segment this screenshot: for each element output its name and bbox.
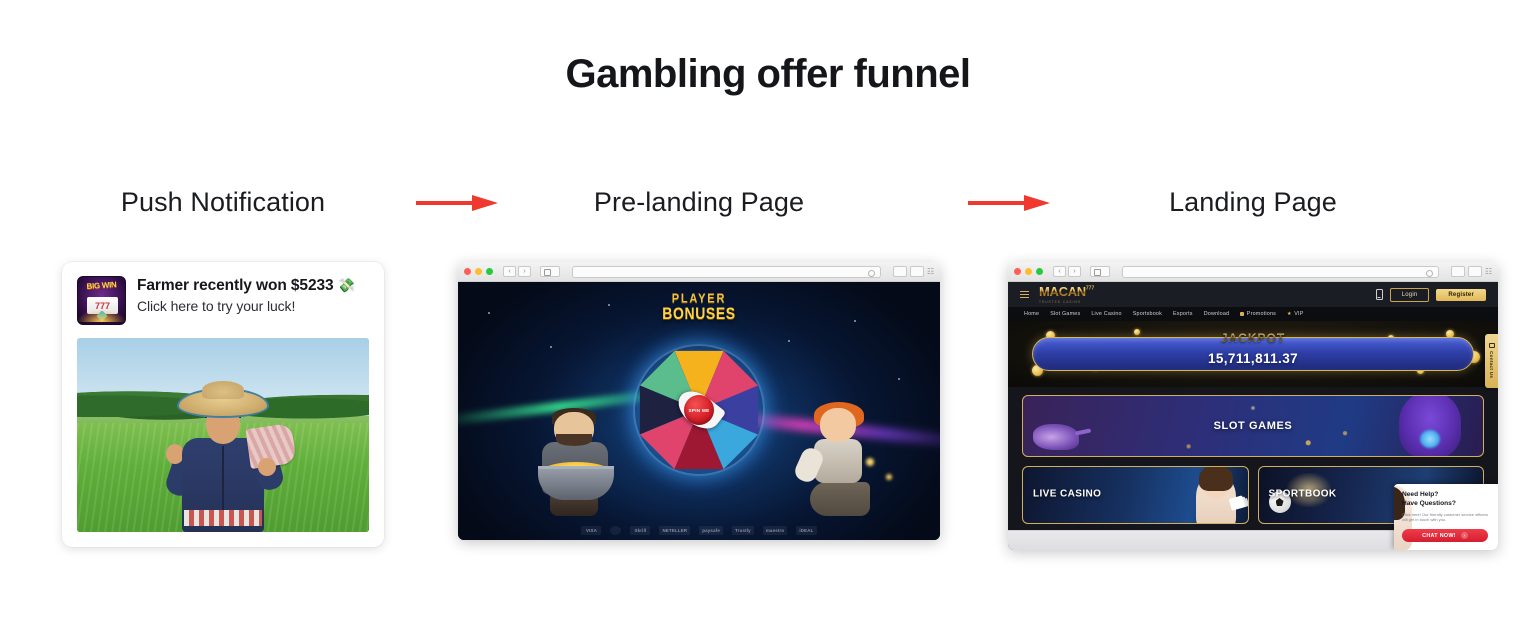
chat-widget-title-line2: Have Questions? xyxy=(1402,500,1490,509)
promo-label-live-casino: LIVE CASINO xyxy=(1033,490,1101,501)
chevron-right-icon: › xyxy=(1461,532,1468,539)
promo-label-slot-games: SLOT GAMES xyxy=(1023,420,1483,432)
stage-header-row: Push Notification Pre-landing Page Landi… xyxy=(0,180,1536,226)
landing-browser-window: ‹ › ☷ MACAN777 TRUSTED CASINO Login xyxy=(1008,262,1498,550)
close-icon[interactable] xyxy=(464,268,471,275)
payment-logo-paysafe: paysafe xyxy=(699,526,723,535)
promo-card-slot-games[interactable]: SLOT GAMES xyxy=(1022,395,1484,457)
address-bar-pre[interactable] xyxy=(572,266,881,278)
close-icon[interactable] xyxy=(1014,268,1021,275)
tab-overview-icon[interactable]: ☷ xyxy=(927,268,934,275)
browser-nav-buttons-landing[interactable]: ‹ › xyxy=(1053,266,1081,277)
minimize-icon[interactable] xyxy=(1025,268,1032,275)
chat-now-button[interactable]: CHAT NOW! › xyxy=(1402,529,1488,542)
jackpot-banner: JACKPOT 15,711,811.37 xyxy=(1008,321,1498,387)
push-notification-title: Farmer recently won $5233 💸 xyxy=(137,277,355,295)
star-icon xyxy=(898,378,900,380)
player-bonuses-logo: PLAYER BONUSES xyxy=(458,294,940,320)
farmer-belt xyxy=(184,510,262,526)
nav-item-label: Live Casino xyxy=(1091,311,1121,317)
pre-landing-content: PLAYER BONUSES 200FREE xyxy=(458,282,940,540)
payment-logo-ideal: iDEAL xyxy=(796,526,816,535)
push-notification-card[interactable]: BIG WIN 777 Farmer recently won $5233 💸 … xyxy=(62,262,384,547)
back-icon[interactable]: ‹ xyxy=(1053,266,1066,277)
nav-item-promotions[interactable]: Promotions xyxy=(1240,311,1276,317)
chat-now-label: CHAT NOW! xyxy=(1422,533,1456,539)
funnel-infographic: Gambling offer funnel Push Notification … xyxy=(0,0,1536,630)
landing-page-content: MACAN777 TRUSTED CASINO Login Register H… xyxy=(1008,282,1498,550)
payment-logo-trustly: Trustly xyxy=(732,526,754,535)
girl-head xyxy=(820,408,856,442)
stage-label-landing-page: Landing Page xyxy=(1008,180,1498,224)
push-notification-image xyxy=(77,338,369,532)
push-title-text: Farmer recently won $5233 xyxy=(137,277,334,294)
forward-icon[interactable]: › xyxy=(1068,266,1081,277)
nav-item-live-casino[interactable]: Live Casino xyxy=(1091,311,1121,317)
prize-wheel[interactable]: 200FREE SPINS$50BONUS300%SLOTS BONUSSPIN… xyxy=(635,346,763,474)
nav-item-label: Sportsbook xyxy=(1133,311,1162,317)
nav-item-label: Download xyxy=(1204,311,1230,317)
wheel-hub[interactable]: SPIN ME xyxy=(679,390,719,430)
nav-item-label: Esports xyxy=(1173,311,1193,317)
browser-nav-buttons-pre[interactable]: ‹ › xyxy=(503,266,531,277)
jackpot-bar: JACKPOT 15,711,811.37 xyxy=(1032,337,1474,371)
browser-right-buttons-pre[interactable]: ☷ xyxy=(893,266,934,277)
pre-landing-browser-window: ‹ › ☷ PLAYER xyxy=(458,262,940,540)
nav-item-download[interactable]: Download xyxy=(1204,311,1230,317)
maximize-icon[interactable] xyxy=(1036,268,1043,275)
browser-toolbar-pre: ‹ › ☷ xyxy=(458,262,940,282)
share-icon[interactable] xyxy=(893,266,907,277)
contact-us-tab[interactable]: Contact Us xyxy=(1485,334,1498,388)
landing-top-bar: MACAN777 TRUSTED CASINO Login Register xyxy=(1008,282,1498,307)
push-notification-text: Farmer recently won $5233 💸 Click here t… xyxy=(137,276,355,314)
promo-label-sportbook: SPORTBOOK xyxy=(1269,490,1337,501)
landing-top-bar-actions: Login Register xyxy=(1376,288,1486,302)
coins-icon xyxy=(78,310,125,322)
jackpot-label: JACKPOT xyxy=(1033,331,1473,345)
chat-bubble-icon xyxy=(1489,343,1495,348)
bokeh-light xyxy=(886,474,892,480)
sidebar-toggle-icon[interactable] xyxy=(1090,266,1110,277)
hamburger-menu-icon[interactable] xyxy=(1020,291,1029,299)
payment-logo-skrill: Skrill xyxy=(630,526,650,535)
site-logo[interactable]: MACAN777 TRUSTED CASINO xyxy=(1039,284,1094,304)
nav-item-vip[interactable]: ★VIP xyxy=(1287,311,1303,317)
big-win-icon-text: BIG WIN xyxy=(78,279,126,291)
payment-logo-maestro: maestro xyxy=(763,526,787,535)
dwarf-moustache xyxy=(556,434,592,446)
gift-icon xyxy=(1240,312,1244,316)
nav-item-label: Home xyxy=(1024,311,1039,317)
window-controls-pre[interactable] xyxy=(464,268,493,275)
star-icon xyxy=(550,346,552,348)
farmer-right-hand xyxy=(258,458,276,476)
nav-item-label: Slot Games xyxy=(1050,311,1080,317)
new-tab-icon[interactable] xyxy=(1468,266,1482,277)
payment-logo-mc xyxy=(610,526,621,535)
payment-logo-visa: VISA xyxy=(581,526,601,535)
browser-toolbar-landing: ‹ › ☷ xyxy=(1008,262,1498,282)
contact-us-label: Contact Us xyxy=(1489,351,1494,378)
page-title: Gambling offer funnel xyxy=(0,52,1536,97)
big-win-slot-icon: BIG WIN 777 xyxy=(77,276,126,325)
payment-logos-row: VISASkrillNETELLERpaysafeTrustlymaestroi… xyxy=(458,526,940,535)
register-button[interactable]: Register xyxy=(1436,289,1486,301)
push-notification-header: BIG WIN 777 Farmer recently won $5233 💸 … xyxy=(77,276,369,325)
straw-hat-icon xyxy=(177,388,269,418)
spin-me-button[interactable]: SPIN ME xyxy=(684,395,714,425)
address-bar-landing[interactable] xyxy=(1122,266,1439,278)
share-icon[interactable] xyxy=(1451,266,1465,277)
push-notification-subtitle: Click here to try your luck! xyxy=(137,298,355,314)
nav-item-esports[interactable]: Esports xyxy=(1173,311,1193,317)
window-controls-landing[interactable] xyxy=(1014,268,1043,275)
minimize-icon[interactable] xyxy=(475,268,482,275)
stage-label-push-notification: Push Notification xyxy=(62,180,384,224)
nav-item-slot-games[interactable]: Slot Games xyxy=(1050,311,1080,317)
money-emoji-icon: 💸 xyxy=(338,277,355,293)
jackpot-amount: 15,711,811.37 xyxy=(1033,351,1473,366)
maximize-icon[interactable] xyxy=(486,268,493,275)
chat-widget-title-line1: Need Help? xyxy=(1402,491,1490,500)
playing-cards-icon xyxy=(1228,495,1245,510)
site-logo-tagline: TRUSTED CASINO xyxy=(1039,301,1094,304)
tab-overview-icon[interactable]: ☷ xyxy=(1485,268,1492,275)
star-icon xyxy=(788,340,790,342)
stage-label-pre-landing-page: Pre-landing Page xyxy=(458,180,940,224)
mobile-app-icon[interactable] xyxy=(1376,289,1383,300)
forward-icon[interactable]: › xyxy=(518,266,531,277)
chat-widget-subtitle: Click here! Our friendly customer servic… xyxy=(1402,512,1490,523)
nav-item-label: Promotions xyxy=(1247,311,1276,317)
nav-item-label: VIP xyxy=(1294,311,1303,317)
girl-character-illustration xyxy=(804,408,878,516)
dwarf-character-illustration xyxy=(536,412,616,516)
treasure-pot-icon xyxy=(538,466,614,500)
nav-item-sportsbook[interactable]: Sportsbook xyxy=(1133,311,1162,317)
chat-widget[interactable]: Need Help? Have Questions? Click here! O… xyxy=(1394,484,1498,550)
site-logo-superscript: 777 xyxy=(1086,286,1094,292)
landing-main-nav[interactable]: HomeSlot GamesLive CasinoSportsbookEspor… xyxy=(1008,307,1498,321)
promo-card-live-casino[interactable]: LIVE CASINO xyxy=(1022,466,1249,524)
star-icon: ★ xyxy=(1287,311,1292,317)
girl-legs xyxy=(810,482,870,516)
back-icon[interactable]: ‹ xyxy=(503,266,516,277)
logo-line-2: BONUSES xyxy=(458,305,940,322)
login-button[interactable]: Login xyxy=(1390,288,1430,302)
browser-right-buttons-landing[interactable]: ☷ xyxy=(1451,266,1492,277)
chat-widget-title: Need Help? Have Questions? xyxy=(1402,491,1490,509)
site-logo-text: MACAN xyxy=(1039,284,1086,299)
nav-item-home[interactable]: Home xyxy=(1024,311,1039,317)
farmer-figure xyxy=(164,382,282,532)
payment-logo-neteller: NETELLER xyxy=(659,526,690,535)
new-tab-icon[interactable] xyxy=(910,266,924,277)
sidebar-toggle-icon[interactable] xyxy=(540,266,560,277)
